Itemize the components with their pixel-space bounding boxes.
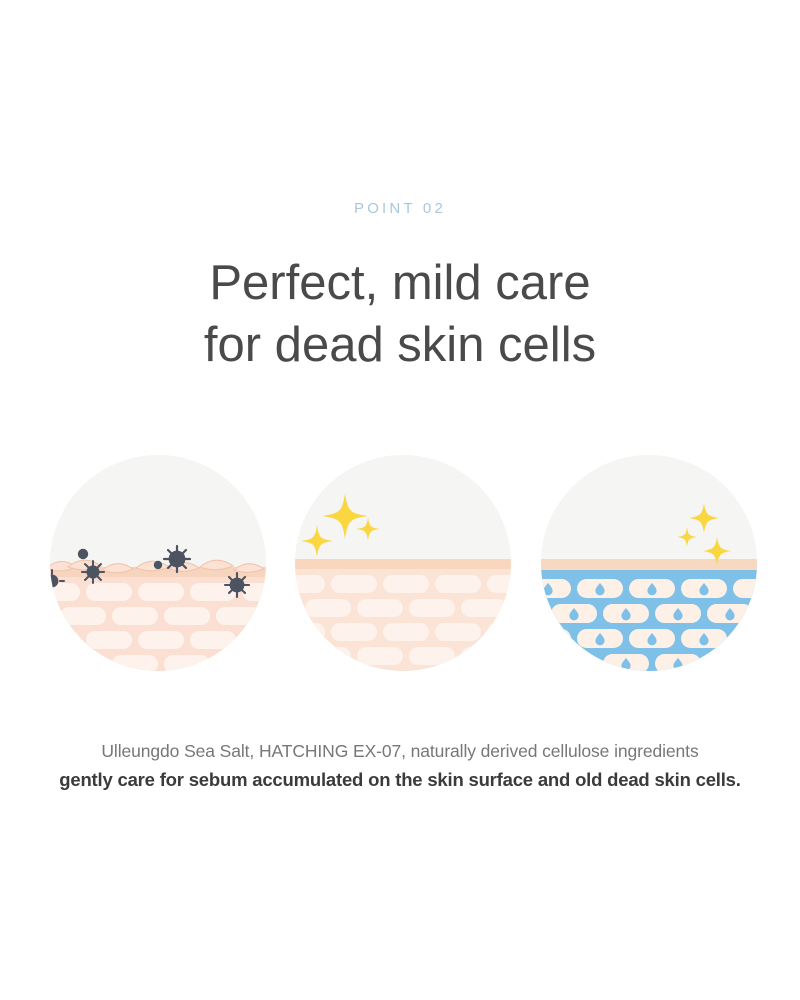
- infographic-page: POINT 02 Perfect, mild care for dead ski…: [0, 0, 800, 1000]
- illustration-clean-skin: [295, 455, 511, 671]
- sparkle-large: [689, 503, 719, 533]
- point-label: POINT 02: [0, 200, 800, 217]
- sparkle-small: [677, 527, 697, 547]
- headline-line-1: Perfect, mild care: [0, 252, 800, 314]
- impurity-specks: [50, 455, 266, 671]
- sparkle-medium: [703, 537, 731, 565]
- sparkle-group: [295, 455, 511, 671]
- headline-line-2: for dead skin cells: [0, 314, 800, 376]
- sparkle-medium: [301, 525, 333, 557]
- illustration-row: [0, 455, 800, 671]
- caption-line-2: gently care for sebum accumulated on the…: [0, 766, 800, 794]
- page-title: Perfect, mild care for dead skin cells: [0, 252, 800, 376]
- caption-block: Ulleungdo Sea Salt, HATCHING EX-07, natu…: [0, 738, 800, 794]
- caption-line-1: Ulleungdo Sea Salt, HATCHING EX-07, natu…: [0, 738, 800, 764]
- sparkle-group: [541, 455, 757, 671]
- illustration-dead-skin: [50, 455, 266, 671]
- illustration-hydrated-skin: [541, 455, 757, 671]
- sparkle-small: [356, 517, 380, 541]
- sparkle-large: [322, 493, 368, 539]
